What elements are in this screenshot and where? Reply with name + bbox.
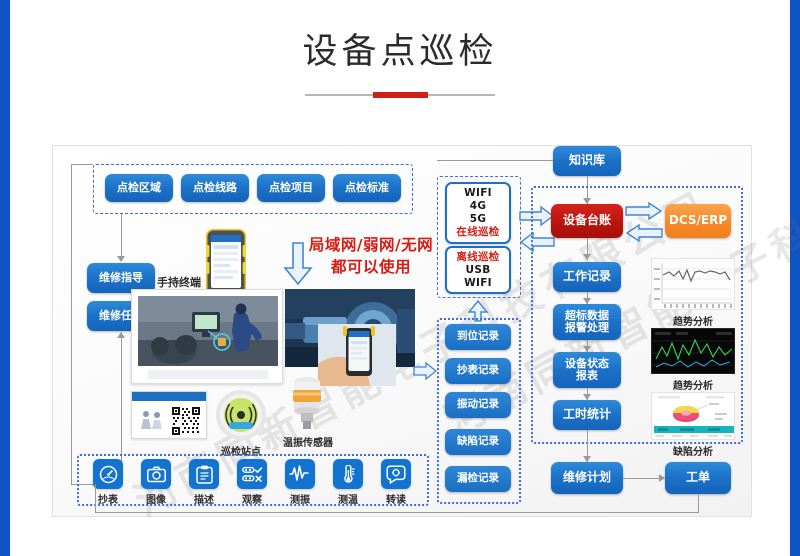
flow-arrow-left-from-erp — [625, 224, 663, 246]
system-status-report[interactable]: 设备状态 报表 — [553, 352, 621, 388]
photo-handheld-in-hand — [318, 324, 396, 386]
chart-card-label: 趋势分析 — [651, 313, 735, 328]
plan-item-area[interactable]: 点检区域 — [105, 174, 173, 202]
record-item-label: 到位记录 — [457, 331, 499, 343]
photo-caption-placeholder — [148, 370, 268, 379]
chart-card-defect-pie — [651, 392, 735, 440]
photo-frame-inspection — [131, 289, 283, 384]
system-item-label: 设备台账 — [563, 214, 611, 227]
plan-item-label: 点检区域 — [117, 182, 161, 194]
capture-tile-image[interactable] — [141, 459, 171, 489]
record-item-label: 振动记录 — [457, 399, 499, 411]
camera-icon — [147, 466, 166, 483]
title-underline-marker — [373, 92, 428, 98]
online-mode-label: 在线巡检 — [456, 226, 499, 239]
bottom-item-label: 工单 — [686, 471, 710, 484]
connector-workorder-down — [698, 494, 699, 512]
page-root: 设备点巡检 河南同新智能电子科技有限公司 河南同新智能电子科技有限公司 点检区域… — [0, 0, 800, 556]
qr-card-illustration — [137, 406, 165, 434]
offline-mode-label: 离线巡检 — [456, 251, 499, 264]
connector-plan-to-guide — [121, 214, 122, 258]
photo-inspection-scene — [138, 296, 278, 366]
bottom-maintenance-plan[interactable]: 维修计划 — [551, 462, 623, 494]
capture-tile-label: 测温 — [323, 491, 373, 506]
offline-capability-note: 局域网/弱网/无网 都可以使用 — [291, 234, 451, 278]
system-item-label: 设备状态 报表 — [565, 358, 609, 383]
capture-tile-temperature[interactable] — [333, 459, 363, 489]
system-item-label: 知识库 — [569, 154, 605, 167]
speech-gear-icon — [386, 465, 406, 484]
chart-card-label: 趋势分析 — [651, 377, 735, 392]
arrowhead-down — [583, 254, 591, 260]
vibration-temp-sensor — [288, 374, 326, 430]
gauge-icon — [99, 465, 118, 484]
flow-arrow-right-capture — [413, 362, 437, 384]
qr-code-image — [171, 406, 201, 436]
plan-item-standard[interactable]: 点检标准 — [333, 174, 401, 202]
architecture-diagram: 河南同新智能电子科技有限公司 河南同新智能电子科技有限公司 点检区域 点检线路 … — [52, 145, 752, 517]
connector-plan-to-knowledge — [437, 160, 553, 161]
note-line-1: 局域网/弱网/无网 — [291, 234, 451, 256]
page-header: 设备点巡检 — [0, 30, 800, 98]
waveform-icon — [289, 465, 311, 483]
online-inspection-box[interactable]: WIFI 4G 5G 在线巡检 — [445, 182, 511, 244]
system-labor-hours[interactable]: 工时统计 — [553, 400, 621, 430]
handheld-label: 手持终端 — [149, 274, 209, 290]
system-work-record[interactable]: 工作记录 — [553, 262, 621, 292]
chart-card-label: 缺陷分析 — [651, 443, 735, 458]
system-alarm-handling[interactable]: 超标数据 报警处理 — [553, 304, 621, 340]
capture-tile-label: 观察 — [227, 491, 277, 506]
arrowhead-up — [117, 332, 125, 338]
title-underline — [305, 92, 495, 98]
clipboard-icon — [196, 465, 213, 484]
capture-tile-vibration[interactable] — [285, 459, 315, 489]
capture-tile-label: 描述 — [179, 491, 229, 506]
record-item-meter[interactable]: 抄表记录 — [445, 358, 511, 384]
checklist-icon — [242, 465, 263, 484]
system-item-label: 超标数据 报警处理 — [565, 310, 609, 335]
system-item-label: 工作记录 — [563, 270, 611, 283]
plan-item-project[interactable]: 点检项目 — [257, 174, 325, 202]
external-system-dcs-erp[interactable]: DCS/ERP — [665, 204, 731, 238]
page-title: 设备点巡检 — [0, 30, 800, 74]
system-knowledge-base[interactable]: 知识库 — [553, 146, 621, 176]
offline-inspection-box[interactable]: 离线巡检 USB WIFI — [445, 246, 511, 294]
plan-item-label: 点检线路 — [193, 182, 237, 194]
capture-tile-label: 图像 — [131, 491, 181, 506]
record-item-label: 缺陷记录 — [457, 436, 499, 448]
bottom-item-label: 维修计划 — [563, 471, 611, 484]
network-line: 4G — [470, 200, 487, 213]
thermometer-icon — [339, 465, 358, 484]
bottom-work-order[interactable]: 工单 — [665, 462, 731, 494]
capture-tile-label: 抄表 — [83, 491, 133, 506]
connector-left-spine — [71, 164, 72, 484]
record-item-label: 漏检记录 — [457, 473, 499, 485]
qr-card-header — [132, 392, 206, 401]
network-line: WIFI — [464, 277, 492, 290]
record-item-missed[interactable]: 漏检记录 — [445, 466, 511, 492]
rfid-tag — [215, 389, 267, 441]
capture-tile-transcribe[interactable] — [381, 459, 411, 489]
sensor-label: 温振传感器 — [277, 434, 339, 449]
capture-tile-description[interactable] — [189, 459, 219, 489]
note-line-2: 都可以使用 — [291, 256, 451, 278]
record-item-label: 抄表记录 — [457, 365, 499, 377]
network-line: USB — [466, 264, 491, 277]
capture-tile-label: 转读 — [371, 491, 421, 506]
arrowhead-down — [117, 256, 125, 262]
system-item-label: 工时统计 — [563, 408, 611, 421]
chart-card-trend-dark — [651, 328, 735, 374]
network-line: 5G — [470, 213, 487, 226]
qr-code-card — [131, 391, 207, 439]
connector-loop-to-left-spine — [95, 484, 96, 512]
capture-tile-observation[interactable] — [237, 459, 267, 489]
record-item-vibration[interactable]: 振动记录 — [445, 392, 511, 418]
connector-plan-to-workorder — [623, 478, 663, 479]
external-system-label: DCS/ERP — [669, 214, 727, 227]
capture-tile-label: 测振 — [275, 491, 325, 506]
left-item-label: 维修指导 — [99, 272, 143, 284]
plan-item-label: 点检标准 — [345, 182, 389, 194]
system-equipment-ledger[interactable]: 设备台账 — [551, 204, 623, 238]
capture-tile-meter-reading[interactable] — [93, 459, 123, 489]
flow-arrow-right-to-erp — [625, 202, 663, 224]
record-item-arrival[interactable]: 到位记录 — [445, 324, 511, 350]
plan-item-label: 点检项目 — [269, 182, 313, 194]
connector-to-plan-frame — [71, 164, 93, 165]
record-item-defect[interactable]: 缺陷记录 — [445, 429, 511, 455]
plan-item-route[interactable]: 点检线路 — [181, 174, 249, 202]
network-line: WIFI — [464, 187, 492, 200]
chart-card-trend-light — [651, 258, 735, 310]
connector-workorder-loop — [95, 512, 699, 513]
